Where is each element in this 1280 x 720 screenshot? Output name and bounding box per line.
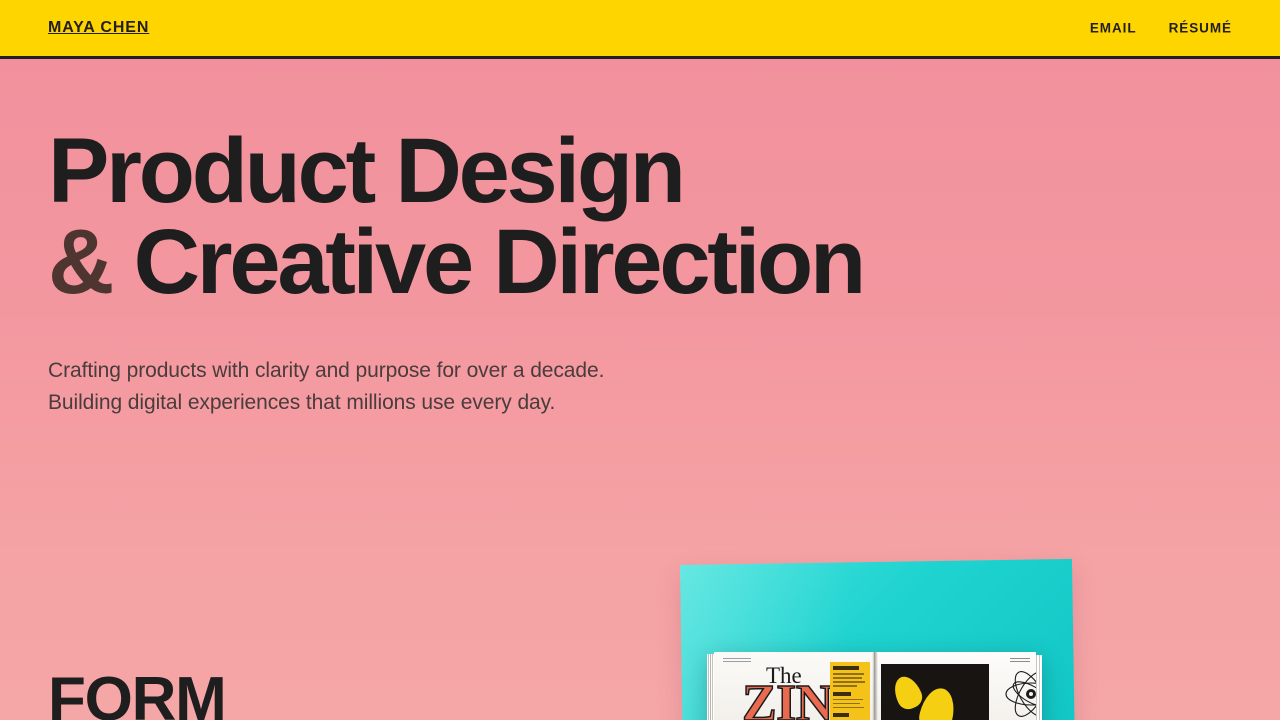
brand-logo[interactable]: MAYA CHEN xyxy=(48,19,149,37)
primary-nav: EMAIL RÉSUMÉ xyxy=(1090,21,1232,36)
nav-link-email[interactable]: EMAIL xyxy=(1090,21,1137,36)
headline-line-2: & Creative Direction xyxy=(48,217,863,308)
headline-line-2-text: Creative Direction xyxy=(111,211,863,313)
left-page-masthead-lines xyxy=(723,658,751,664)
page-root: MAYA CHEN EMAIL RÉSUMÉ Product Design & … xyxy=(0,0,1280,720)
magazine-right-page xyxy=(875,652,1036,720)
atom-diagram-icon xyxy=(1003,666,1036,720)
right-page-black-panel xyxy=(881,664,989,720)
magazine-left-page: The ZIN xyxy=(714,652,875,720)
page-title: Product Design & Creative Direction xyxy=(48,126,863,308)
magazine-gutter-shadow xyxy=(873,652,878,720)
headline-ampersand: & xyxy=(48,211,111,313)
nav-link-resume[interactable]: RÉSUMÉ xyxy=(1169,21,1232,36)
subheading-line-1: Crafting products with clarity and purpo… xyxy=(48,355,604,387)
pear-shape-a xyxy=(889,672,925,712)
magazine-pages: The ZIN xyxy=(714,652,1036,720)
magazine-spread-photo: The ZIN xyxy=(714,652,1036,720)
right-page-folio-lines xyxy=(1010,658,1030,663)
magazine-title: ZIN xyxy=(742,682,833,720)
pear-shape-b xyxy=(916,685,959,720)
hero-subheading: Crafting products with clarity and purpo… xyxy=(48,355,604,419)
top-navigation-bar: MAYA CHEN EMAIL RÉSUMÉ xyxy=(0,0,1280,59)
left-page-yellow-column xyxy=(830,662,870,720)
headline-line-1: Product Design xyxy=(48,126,863,217)
showcase-image: The ZIN xyxy=(672,560,1082,720)
section-title-form: FORM xyxy=(48,672,226,720)
subheading-line-2: Building digital experiences that millio… xyxy=(48,387,604,419)
